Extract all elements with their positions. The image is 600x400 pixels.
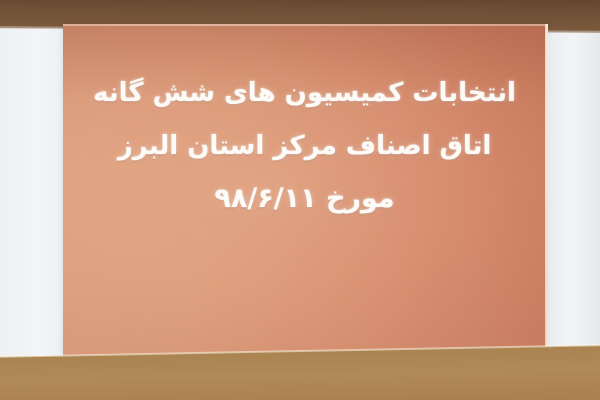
slide-text-block: انتخابات کمیسیون های شش گانه اتاق اصناف … [63,24,546,364]
slide-title-line-1: انتخابات کمیسیون های شش گانه [93,80,516,106]
wall-right [545,0,600,400]
presentation-slide: انتخابات کمیسیون های شش گانه اتاق اصناف … [63,24,546,364]
slide-title-line-2: اتاق اصناف مرکز استان البرز [118,133,492,159]
projected-slide-photo: انتخابات کمیسیون های شش گانه اتاق اصناف … [0,0,600,400]
wall-left [0,0,64,400]
slide-date-line: مورخ ۹۸/۶/۱۱ [214,185,394,212]
